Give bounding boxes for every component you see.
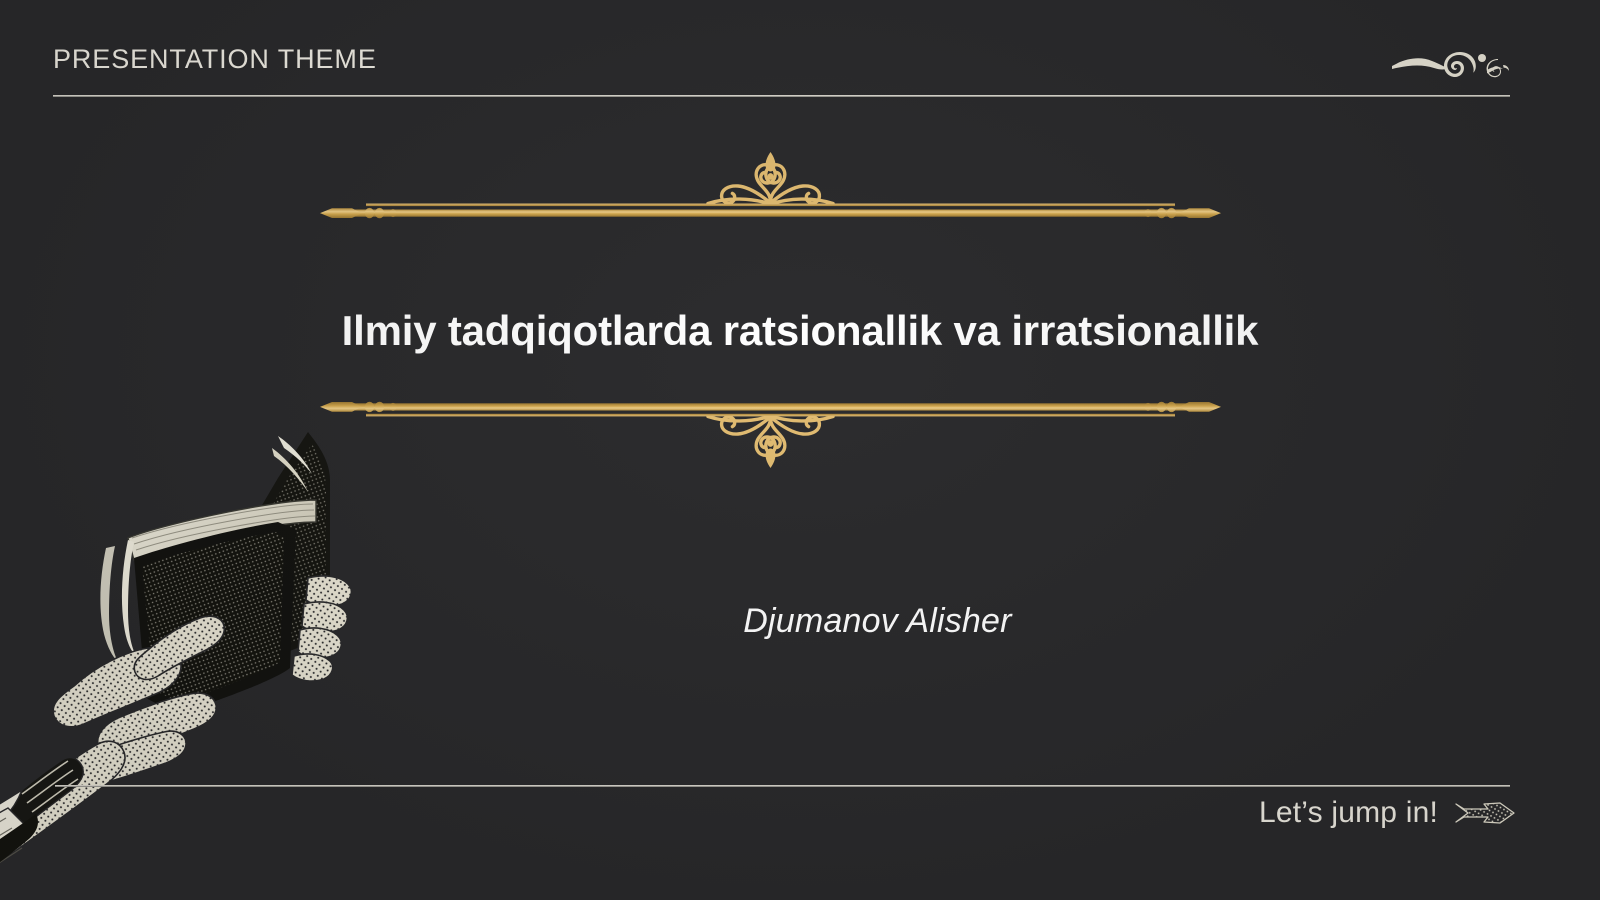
slide-footer: Let’s jump in! <box>1259 796 1516 830</box>
author-name: Djumanov Alisher <box>440 602 1315 641</box>
gold-ornamental-divider-down-icon <box>318 392 1223 472</box>
footer-divider-rule <box>55 785 1510 787</box>
footer-label: Let’s jump in! <box>1259 796 1438 830</box>
header-divider-rule <box>53 95 1510 97</box>
flourish-swirl-ornament-icon <box>1390 40 1510 84</box>
slide-header: PRESENTATION THEME <box>53 44 1510 100</box>
slide-title: Ilmiy tadqiqotlarda ratsionallik va irra… <box>0 305 1600 357</box>
presentation-slide: PRESENTATION THEME <box>0 0 1600 900</box>
hands-holding-open-book-engraving <box>0 418 378 900</box>
engraved-right-arrow-icon <box>1454 798 1516 828</box>
header-title: PRESENTATION THEME <box>53 44 377 75</box>
gold-ornamental-divider-up-icon <box>318 148 1223 228</box>
